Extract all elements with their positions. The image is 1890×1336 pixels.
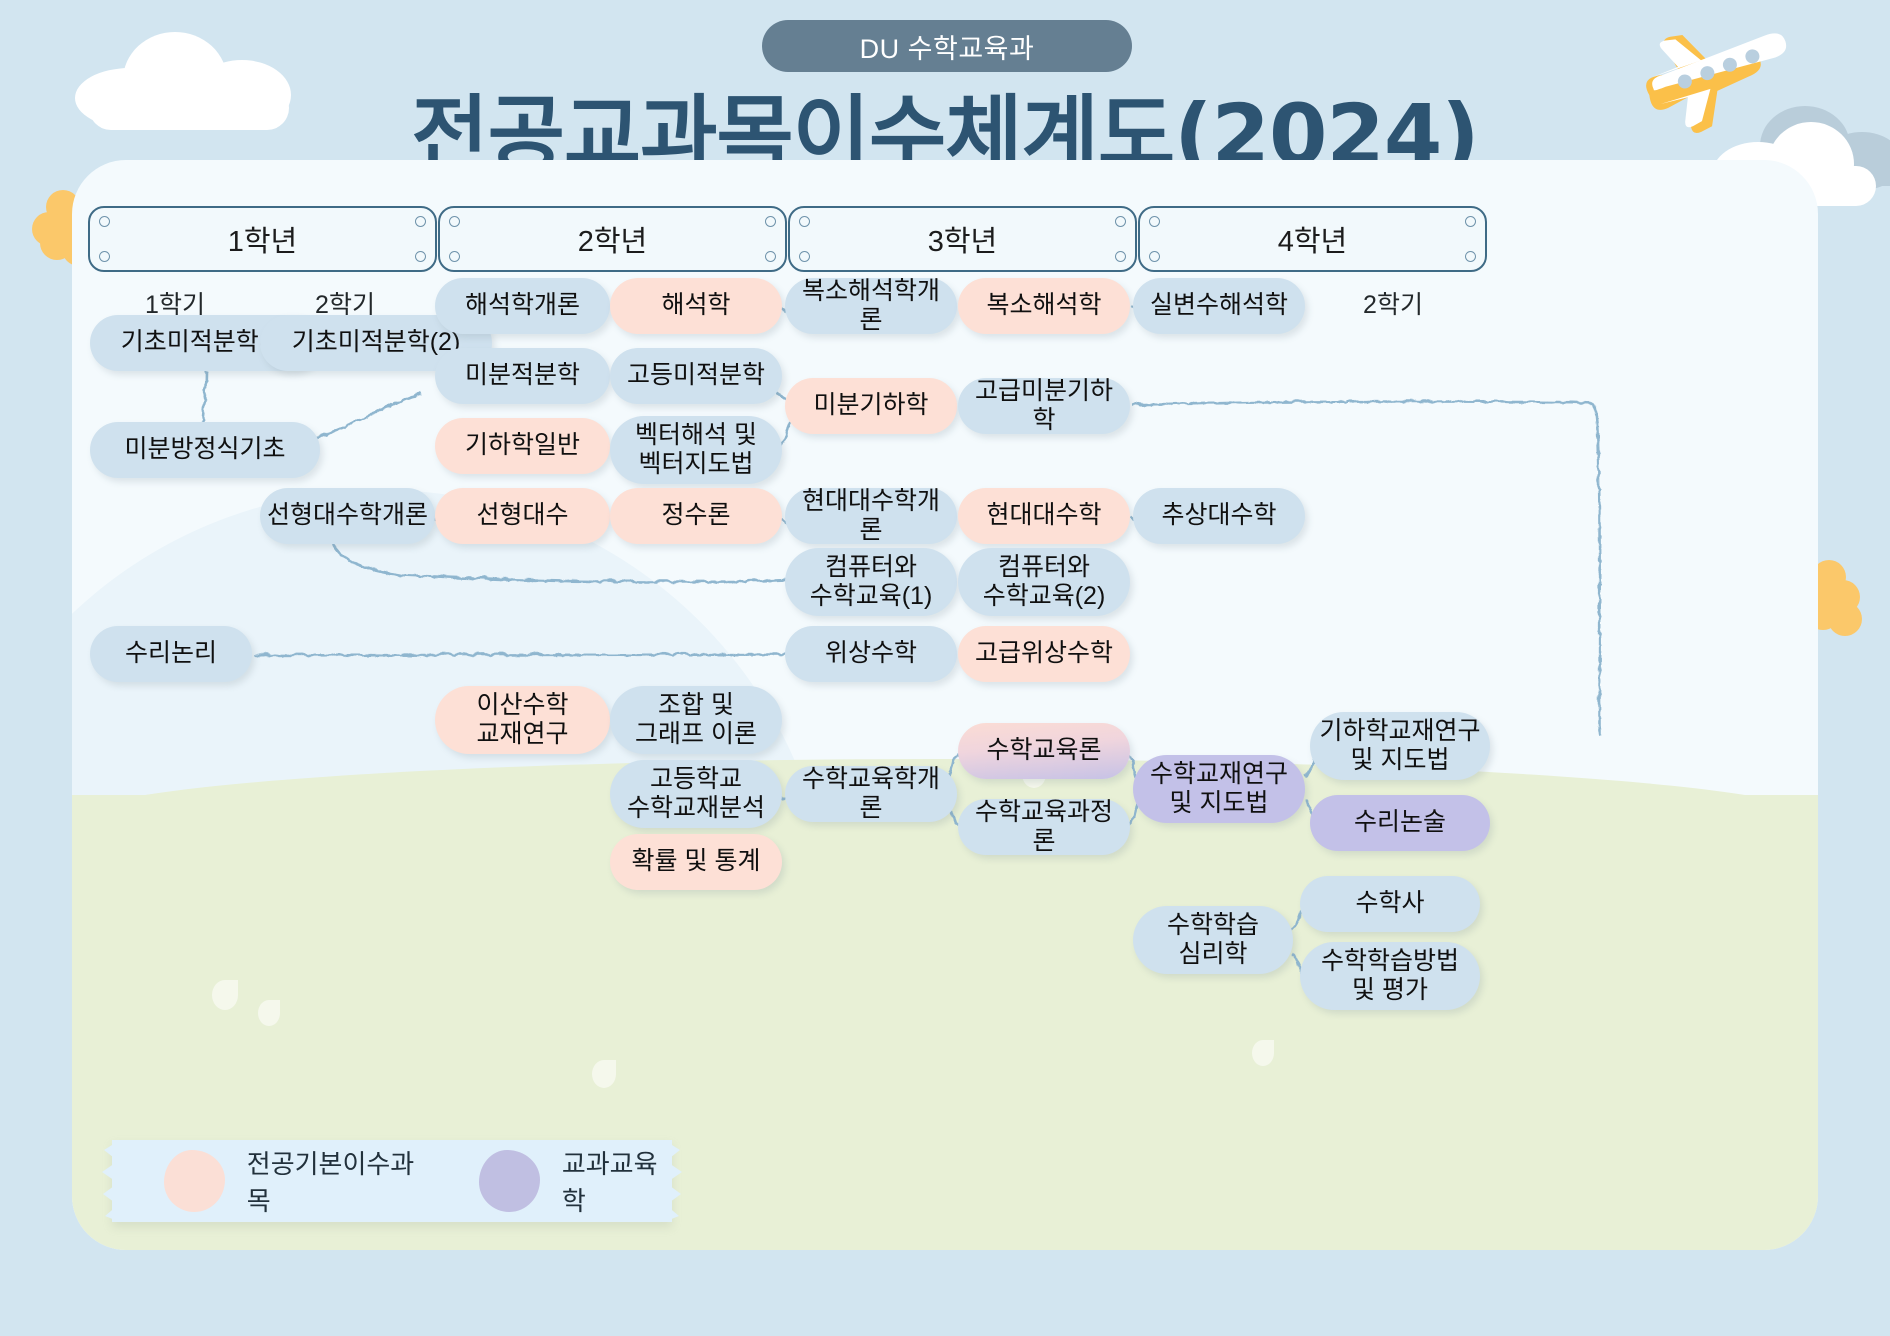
screw-icon — [415, 251, 426, 262]
screw-icon — [1149, 216, 1160, 227]
course-node-확률및통계[interactable]: 확률 및 통계 — [610, 834, 782, 890]
course-node-수학학습심리학[interactable]: 수학학습 심리학 — [1133, 906, 1293, 974]
course-node-실변수해석학[interactable]: 실변수해석학 — [1133, 278, 1305, 334]
legend: 전공기본이수과목 교과교육학 — [112, 1140, 672, 1222]
course-node-수학교육론[interactable]: 수학교육론 — [958, 723, 1130, 779]
screw-icon — [1149, 251, 1160, 262]
screw-icon — [449, 251, 460, 262]
course-node-선형대수[interactable]: 선형대수 — [435, 488, 610, 544]
leaf-decor-1 — [212, 980, 238, 1010]
course-node-미분기하학[interactable]: 미분기하학 — [785, 378, 957, 434]
course-node-벡터해석및벡터지도법[interactable]: 벡터해석 및 벡터지도법 — [610, 416, 782, 484]
year-header-1: 1학년 — [88, 206, 437, 272]
course-node-이산수학교재연구[interactable]: 이산수학 교재연구 — [435, 686, 610, 754]
screw-icon — [1465, 216, 1476, 227]
year-header-2: 2학년 — [438, 206, 787, 272]
course-node-미분방정식기초[interactable]: 미분방정식기초 — [90, 422, 320, 478]
course-node-수리논리[interactable]: 수리논리 — [90, 626, 252, 682]
screw-icon — [1115, 216, 1126, 227]
screw-icon — [449, 216, 460, 227]
course-node-컴퓨터와수학교육-2[interactable]: 컴퓨터와 수학교육(2) — [958, 548, 1130, 616]
year-header-3: 3학년 — [788, 206, 1137, 272]
course-node-선형대수학개론[interactable]: 선형대수학개론 — [260, 488, 435, 544]
course-node-복소해석학[interactable]: 복소해석학 — [958, 278, 1130, 334]
screw-icon — [99, 251, 110, 262]
screw-icon — [799, 251, 810, 262]
course-node-해석학[interactable]: 해석학 — [610, 278, 782, 334]
legend-label-subject-pedagogy: 교과교육학 — [562, 1144, 672, 1218]
course-node-정수론[interactable]: 정수론 — [610, 488, 782, 544]
course-node-해석학개론[interactable]: 해석학개론 — [435, 278, 610, 334]
course-node-미분적분학[interactable]: 미분적분학 — [435, 348, 610, 404]
legend-label-major-basic: 전공기본이수과목 — [247, 1144, 423, 1218]
screw-icon — [1465, 251, 1476, 262]
year-header-1-label: 1학년 — [228, 218, 298, 260]
legend-swatch-major-basic — [164, 1150, 225, 1212]
year-header-3-label: 3학년 — [928, 218, 998, 260]
screw-icon — [765, 251, 776, 262]
course-node-복소해석학개론[interactable]: 복소해석학개론 — [785, 278, 957, 334]
department-badge: DU 수학교육과 — [762, 20, 1132, 72]
course-node-조합및그래프이론[interactable]: 조합 및 그래프 이론 — [610, 686, 782, 754]
year-header-4-label: 4학년 — [1278, 218, 1348, 260]
course-node-컴퓨터와수학교육-1[interactable]: 컴퓨터와 수학교육(1) — [785, 548, 957, 616]
course-node-추상대수학[interactable]: 추상대수학 — [1133, 488, 1305, 544]
course-node-수학교재연구및지도법[interactable]: 수학교재연구 및 지도법 — [1133, 755, 1305, 823]
screw-icon — [415, 216, 426, 227]
course-node-고등학교수학교재분석[interactable]: 고등학교 수학교재분석 — [610, 760, 782, 828]
screw-icon — [99, 216, 110, 227]
course-node-고급미분기하학[interactable]: 고급미분기하학 — [958, 378, 1130, 434]
course-node-고급위상수학[interactable]: 고급위상수학 — [958, 626, 1130, 682]
leaf-decor-5 — [592, 1060, 616, 1088]
course-node-수학교육학개론[interactable]: 수학교육학개론 — [785, 766, 957, 822]
leaf-decor-6 — [1252, 1040, 1274, 1066]
course-node-기하학교재연구및지도법[interactable]: 기하학교재연구 및 지도법 — [1310, 712, 1490, 780]
course-node-기하학일반[interactable]: 기하학일반 — [435, 418, 610, 474]
course-node-수학학습방법및평가[interactable]: 수학학습방법 및 평가 — [1300, 942, 1480, 1010]
screw-icon — [765, 216, 776, 227]
leaf-decor-2 — [258, 1000, 280, 1026]
legend-swatch-subject-pedagogy — [479, 1150, 540, 1212]
course-node-현대대수학[interactable]: 현대대수학 — [958, 488, 1130, 544]
course-node-수학사[interactable]: 수학사 — [1300, 876, 1480, 932]
course-node-현대대수학개론[interactable]: 현대대수학개론 — [785, 488, 957, 544]
screw-icon — [799, 216, 810, 227]
semester-label-y4s2: 2학기 — [1333, 285, 1453, 321]
course-node-수학교육과정론[interactable]: 수학교육과정론 — [958, 799, 1130, 855]
course-node-고등미적분학[interactable]: 고등미적분학 — [610, 348, 782, 404]
course-node-위상수학[interactable]: 위상수학 — [785, 626, 957, 682]
year-header-4: 4학년 — [1138, 206, 1487, 272]
course-node-수리논술[interactable]: 수리논술 — [1310, 795, 1490, 851]
screw-icon — [1115, 251, 1126, 262]
year-header-2-label: 2학년 — [578, 218, 648, 260]
